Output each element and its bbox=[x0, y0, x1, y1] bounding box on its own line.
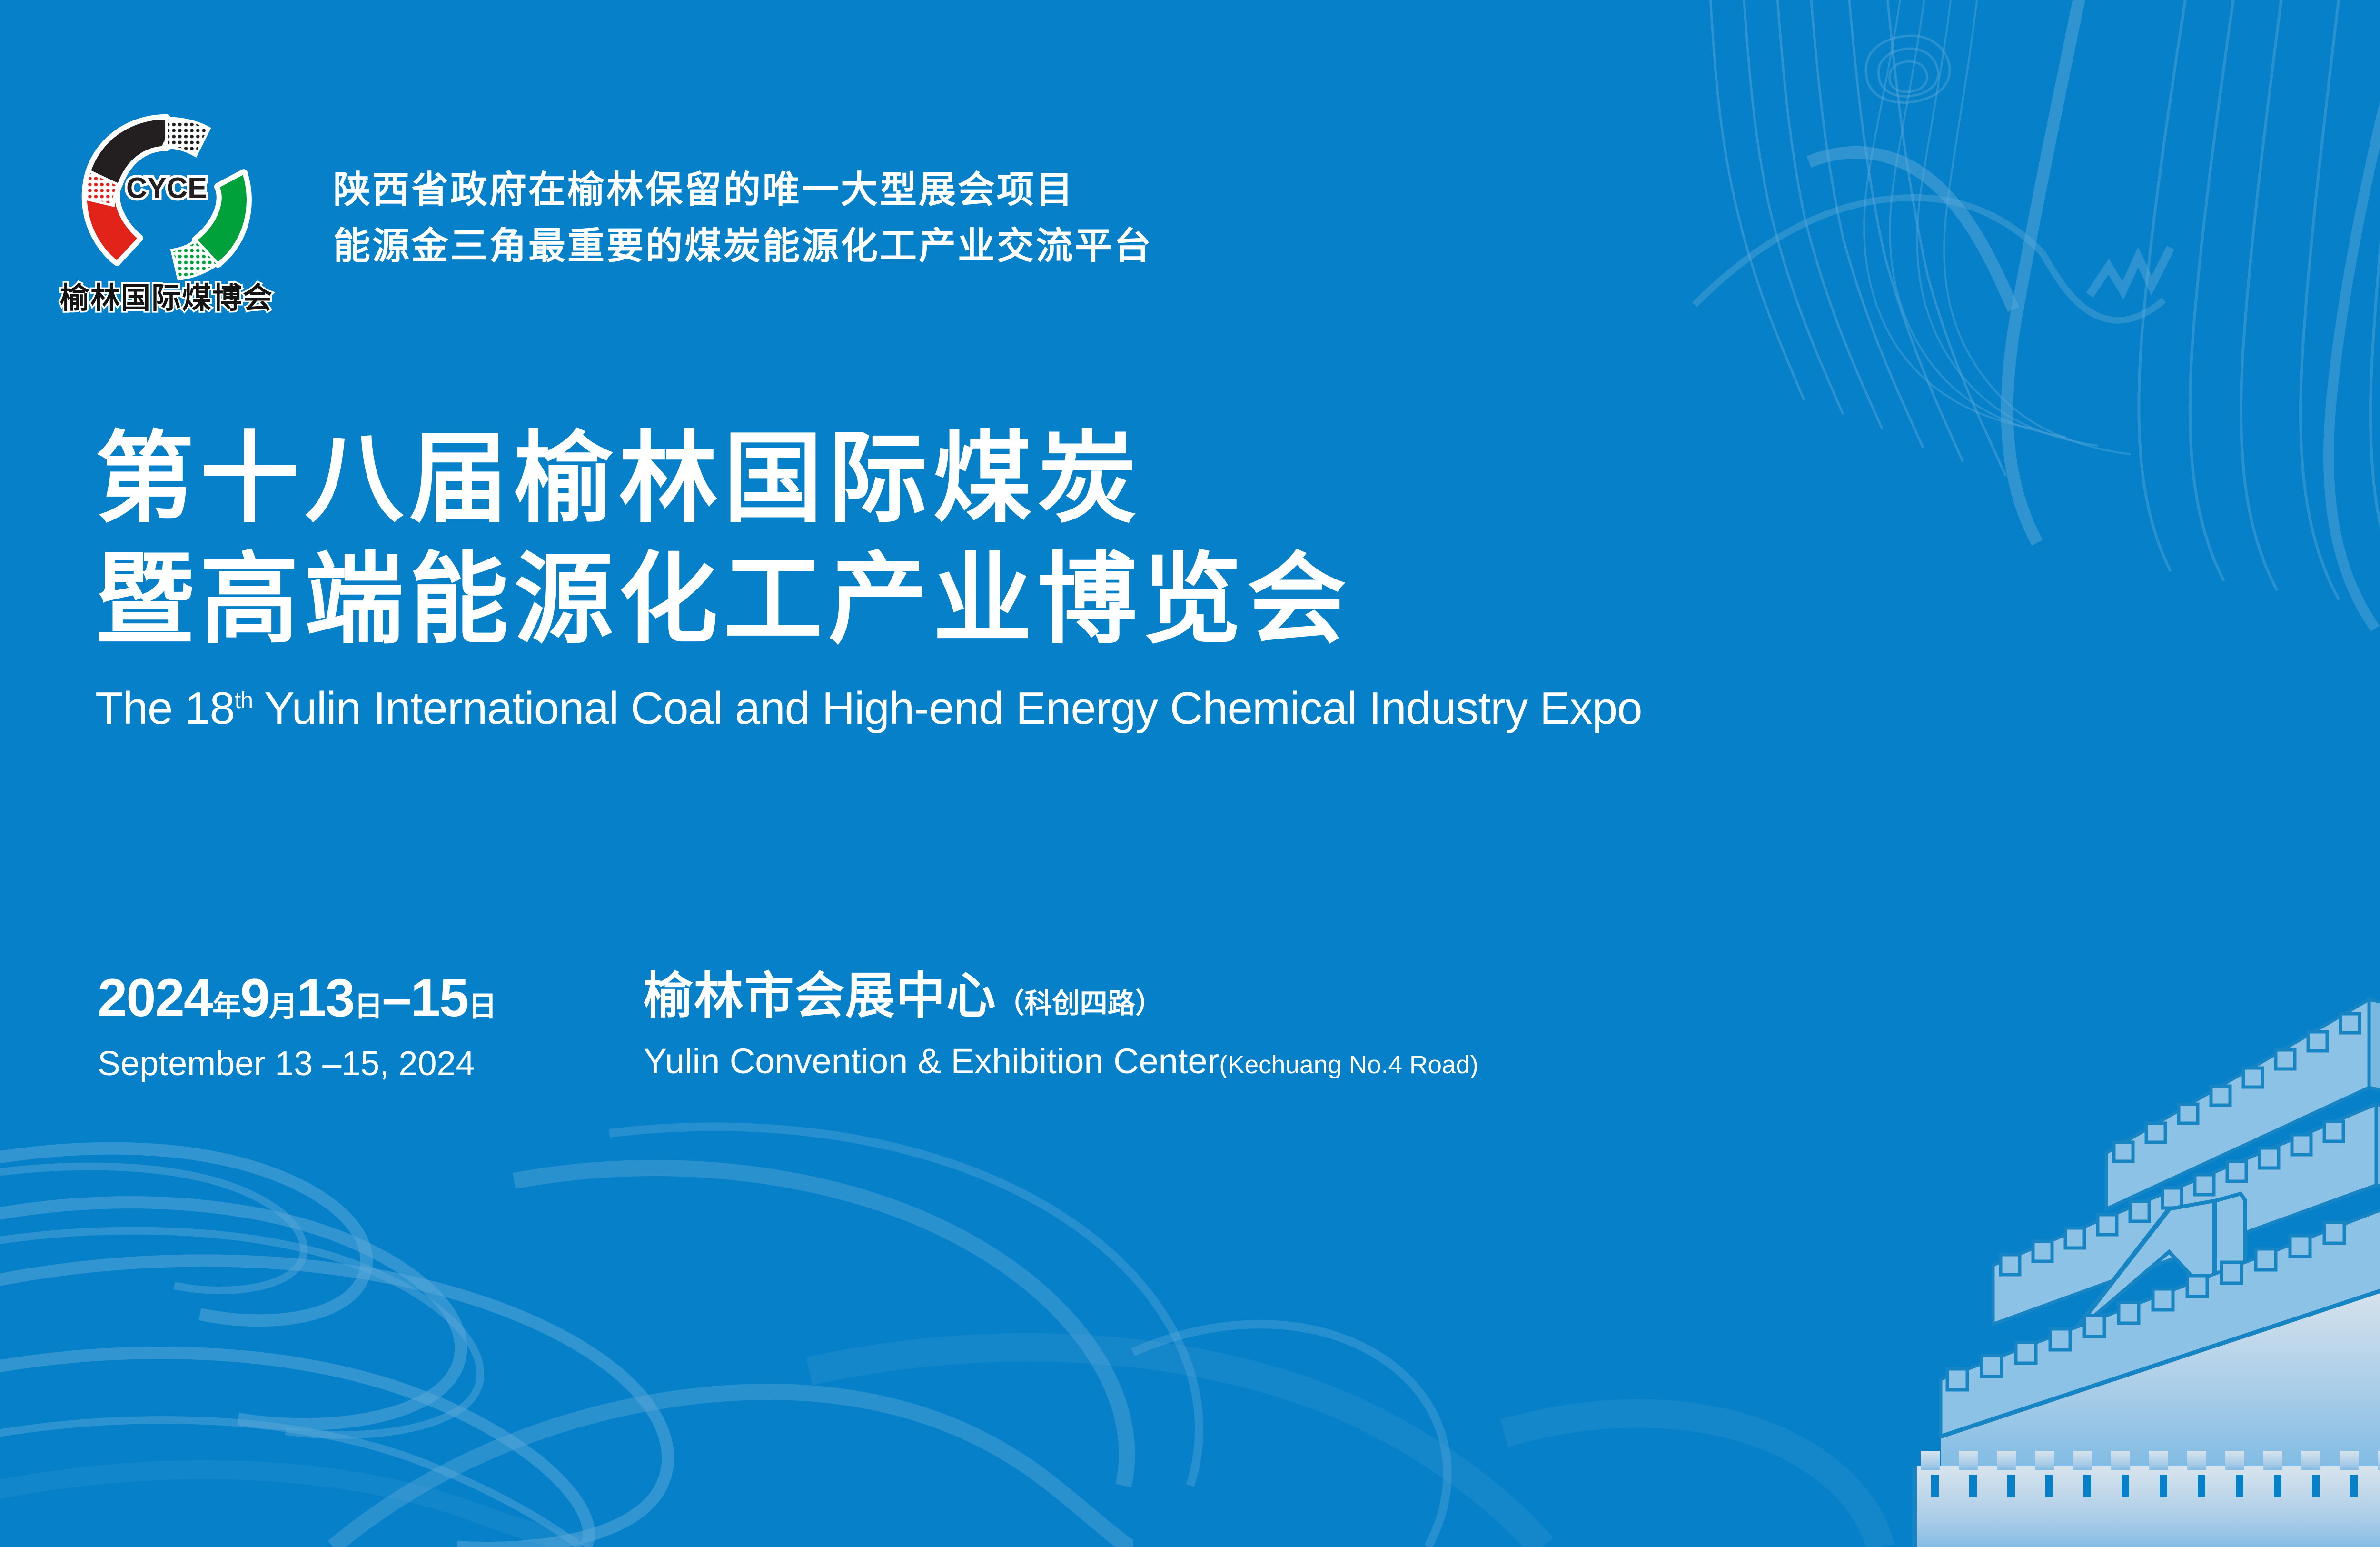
event-info-row: 2024年9月13日–15日 September 13 –15, 2024 榆林… bbox=[98, 971, 1478, 1081]
date-month: 9 bbox=[240, 968, 269, 1028]
venue-column: 榆林市会展中心（科创四路） Yulin Convention & Exhibit… bbox=[644, 971, 1478, 1079]
title-line-2: 暨高端能源化工产业博览会 bbox=[95, 540, 1642, 661]
venue-english: Yulin Convention & Exhibition Center(Kec… bbox=[644, 1044, 1478, 1079]
date-day-end: 15 bbox=[411, 968, 468, 1028]
yulin-city-wall-illustration bbox=[1912, 985, 2380, 1547]
venue-address-cn: （科创四路） bbox=[997, 988, 1163, 1019]
subtitle-rest: Yulin International Coal and High-end En… bbox=[253, 683, 1642, 734]
subtitle-ordinal-suffix: th bbox=[235, 688, 253, 713]
date-chinese: 2024年9月13日–15日 bbox=[98, 971, 496, 1025]
date-year: 2024 bbox=[98, 968, 212, 1028]
title-line-1: 第十八届榆林国际煤炭 bbox=[95, 419, 1642, 540]
english-subtitle: The 18th Yulin International Coal and Hi… bbox=[95, 686, 1642, 731]
cyce-logo: CYCE 榆林国际煤博会 bbox=[71, 110, 262, 313]
venue-chinese: 榆林市会展中心（科创四路） bbox=[644, 971, 1478, 1021]
tagline-2: 能源金三角最重要的煤炭能源化工产业交流平台 bbox=[333, 227, 1153, 264]
tagline-1: 陕西省政府在榆林保留的唯一大型展会项目 bbox=[333, 171, 1153, 208]
venue-name-cn: 榆林市会展中心 bbox=[644, 968, 997, 1024]
date-column: 2024年9月13日–15日 September 13 –15, 2024 bbox=[98, 971, 496, 1081]
date-english: September 13 –15, 2024 bbox=[98, 1047, 496, 1081]
date-year-unit: 年 bbox=[212, 990, 240, 1022]
cyce-wordmark: CYCE bbox=[126, 171, 207, 204]
logo-caption: 榆林国际煤博会 bbox=[60, 284, 273, 313]
date-day-unit-end: 日 bbox=[468, 990, 496, 1022]
date-range-dash: – bbox=[382, 968, 410, 1028]
venue-address-en: (Kechuang No.4 Road) bbox=[1219, 1051, 1478, 1079]
venue-name-en: Yulin Convention & Exhibition Center bbox=[644, 1041, 1219, 1081]
date-day-unit-start: 日 bbox=[354, 990, 382, 1022]
tagline-group: 陕西省政府在榆林保留的唯一大型展会项目 能源金三角最重要的煤炭能源化工产业交流平… bbox=[333, 171, 1153, 264]
subtitle-prefix: The 18 bbox=[95, 683, 235, 734]
poster-header: CYCE 榆林国际煤博会 陕西省政府在榆林保留的唯一大型展会项目 能源金三角最重… bbox=[71, 110, 1153, 313]
date-day-start: 13 bbox=[297, 968, 354, 1028]
title-block: 第十八届榆林国际煤炭 暨高端能源化工产业博览会 The 18th Yulin I… bbox=[95, 419, 1642, 731]
poster-canvas: CYCE 榆林国际煤博会 陕西省政府在榆林保留的唯一大型展会项目 能源金三角最重… bbox=[0, 0, 2380, 1547]
cyce-logo-mark: CYCE bbox=[81, 110, 252, 281]
date-month-unit: 月 bbox=[269, 990, 297, 1022]
